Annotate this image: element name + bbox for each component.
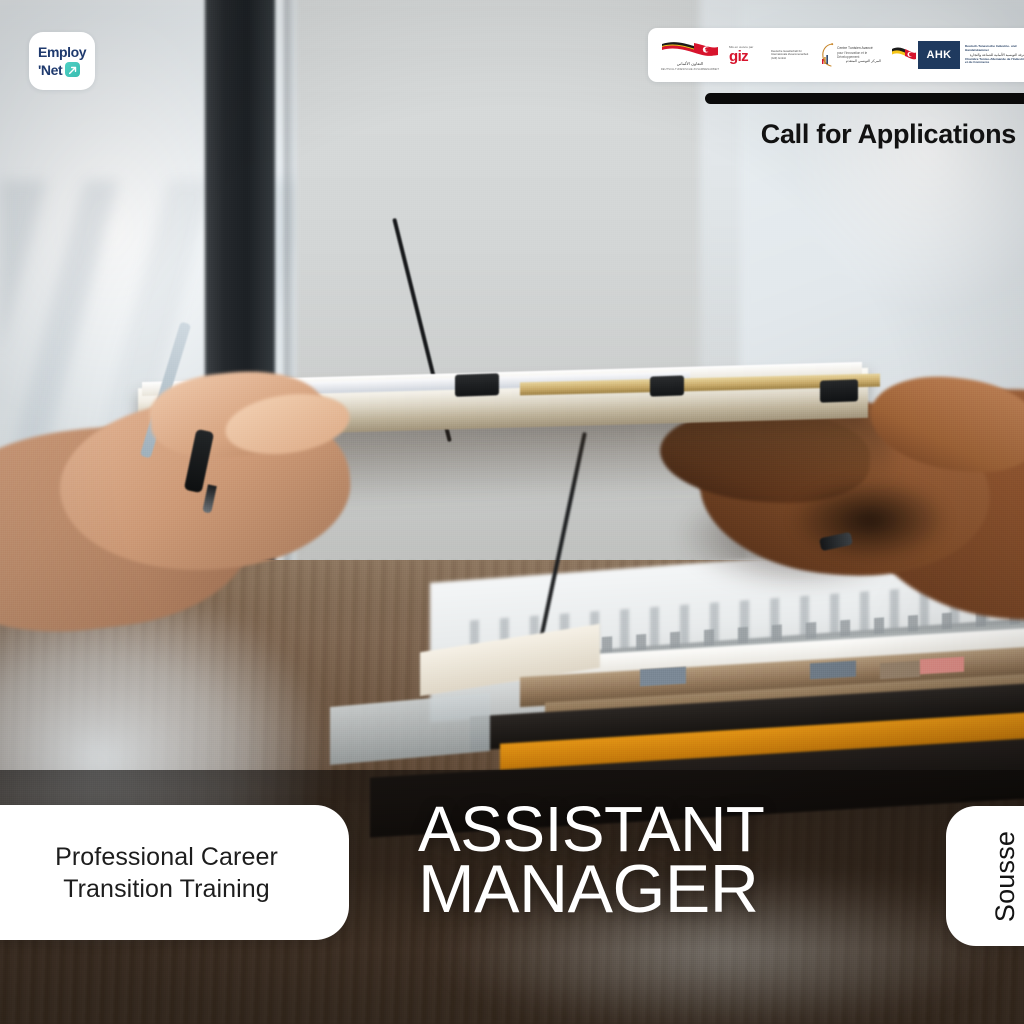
ahk-german-name: Deutsch-Tunesische Industrie- und Handel…: [965, 45, 1024, 53]
centre-line2: pour l'Innovation et le Développement: [837, 51, 881, 59]
ahk-flag-icon: [890, 41, 918, 69]
centre-line1: Centre Tunisien Avancé: [837, 46, 881, 50]
ahk-french-name: Chambre Tuniso-Allemande de l'Industrie …: [965, 58, 1024, 66]
employnet-logo-card[interactable]: Employ 'Net: [29, 32, 95, 90]
sticky-tab-tan: [880, 661, 920, 679]
flags-caption: DEUTSCH-TUNESISCHE ZUSAMMENARBEIT: [661, 68, 719, 71]
logo-text-employ: Employ: [38, 45, 86, 59]
logo-text-net: 'Net: [38, 63, 62, 77]
job-title: ASSISTANT MANAGER: [418, 800, 888, 921]
giz-wordmark: giz: [729, 49, 767, 64]
clipboard-clamp-far: [820, 379, 858, 402]
call-for-applications-heading: Call for Applications: [648, 114, 1024, 154]
giz-logo-icon: Mis en œuvre par giz Deutsche Gesellscha…: [729, 46, 811, 65]
sticky-tab-grey: [640, 667, 686, 687]
program-line-1: Professional Career: [55, 841, 278, 873]
job-title-line-2: MANAGER: [418, 858, 888, 921]
giz-subtitle: Deutsche Gesellschaft für Internationale…: [771, 50, 811, 61]
ahk-logo-icon: AHK Deutsch-Tunesische Industrie- und Ha…: [890, 41, 1024, 69]
centre-tunisien-logo-icon: Centre Tunisien Avancé pour l'Innovation…: [820, 42, 881, 68]
partner-logos-bar: التعاون الألماني DEUTSCH-TUNESISCHE ZUSA…: [648, 28, 1024, 82]
location-label: Sousse: [990, 830, 1021, 921]
clipboard-clamp-right: [650, 375, 684, 396]
arrow-mark-icon: [65, 62, 80, 77]
german-tunisian-cooperation-flags-icon: التعاون الألماني DEUTSCH-TUNESISCHE ZUSA…: [660, 39, 720, 71]
clipboard-clamp-left: [455, 373, 499, 397]
program-name-pill: Professional Career Transition Training: [0, 805, 349, 940]
poster-canvas: Employ 'Net التعاون الألماني DE: [0, 0, 1024, 1024]
flags-arabic-label: التعاون الألماني: [677, 62, 703, 67]
header-black-rule: [705, 93, 1024, 104]
centre-arabic: المركز التونسي المتقدم: [837, 59, 881, 63]
location-pill: Sousse: [946, 806, 1024, 946]
ahk-wordmark: AHK: [918, 41, 960, 69]
program-line-2: Transition Training: [63, 873, 270, 905]
sticky-tab-slate: [810, 661, 856, 680]
sticky-tab-pink: [920, 657, 964, 675]
